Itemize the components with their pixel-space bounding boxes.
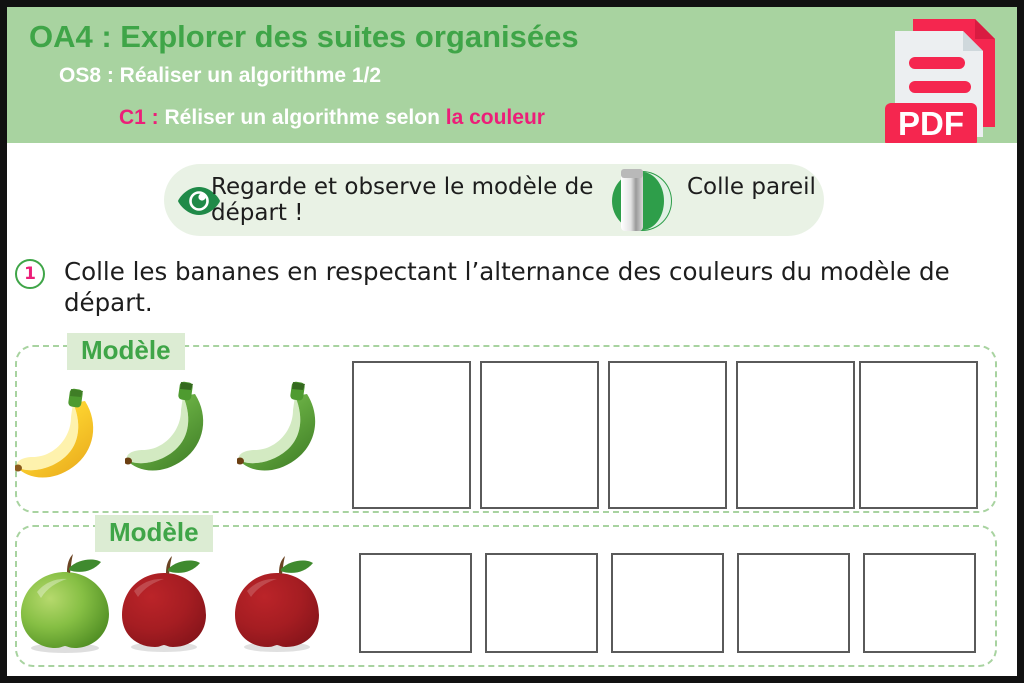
model-label-bananas: Modèle xyxy=(67,333,185,370)
worksheet-header: OA4 : Explorer des suites organisées OS8… xyxy=(7,7,1017,143)
objective-line: OS8 : Réaliser un algorithme 1/2 xyxy=(59,64,381,88)
pdf-icon[interactable]: PDF xyxy=(883,15,1003,143)
competency-tag: C1 : xyxy=(119,106,165,129)
competency-line: C1 : Réliser un algorithme selon la coul… xyxy=(119,107,545,128)
model-item-apple-red-2 xyxy=(227,555,327,653)
model-item-banana-green-2 xyxy=(237,380,349,488)
glue-instruction-text: Colle pareil xyxy=(687,174,827,200)
model-item-apple-green xyxy=(13,552,117,654)
answer-box-apples-4[interactable] xyxy=(737,553,850,653)
task-number-badge: 1 xyxy=(15,259,45,289)
answer-box-apples-2[interactable] xyxy=(485,553,598,653)
pdf-badge-label: PDF xyxy=(898,105,964,142)
page-title: OA4 : Explorer des suites organisées xyxy=(29,19,579,55)
answer-box-apples-3[interactable] xyxy=(611,553,724,653)
answer-box-apples-1[interactable] xyxy=(359,553,472,653)
competency-text: Réliser un algorithme selon xyxy=(165,106,446,129)
task-instruction: Colle les bananes en respectant l’altern… xyxy=(64,256,1014,318)
answer-box-bananas-3[interactable] xyxy=(608,361,727,509)
answer-box-bananas-5[interactable] xyxy=(859,361,978,509)
answer-box-apples-5[interactable] xyxy=(863,553,976,653)
model-item-banana-green-1 xyxy=(125,380,237,488)
model-item-banana-yellow xyxy=(15,387,127,495)
model-item-apple-red-1 xyxy=(114,555,214,653)
competency-highlight: la couleur xyxy=(446,106,545,129)
look-instruction-text: Regarde et observe le modèle de départ ! xyxy=(211,174,621,226)
answer-box-bananas-1[interactable] xyxy=(352,361,471,509)
model-label-apples: Modèle xyxy=(95,515,213,552)
answer-box-bananas-2[interactable] xyxy=(480,361,599,509)
answer-box-bananas-4[interactable] xyxy=(736,361,855,509)
glue-stick-icon xyxy=(597,168,687,234)
instruction-banner: Regarde et observe le modèle de départ ! xyxy=(164,164,824,236)
worksheet-page: OA4 : Explorer des suites organisées OS8… xyxy=(0,0,1024,683)
